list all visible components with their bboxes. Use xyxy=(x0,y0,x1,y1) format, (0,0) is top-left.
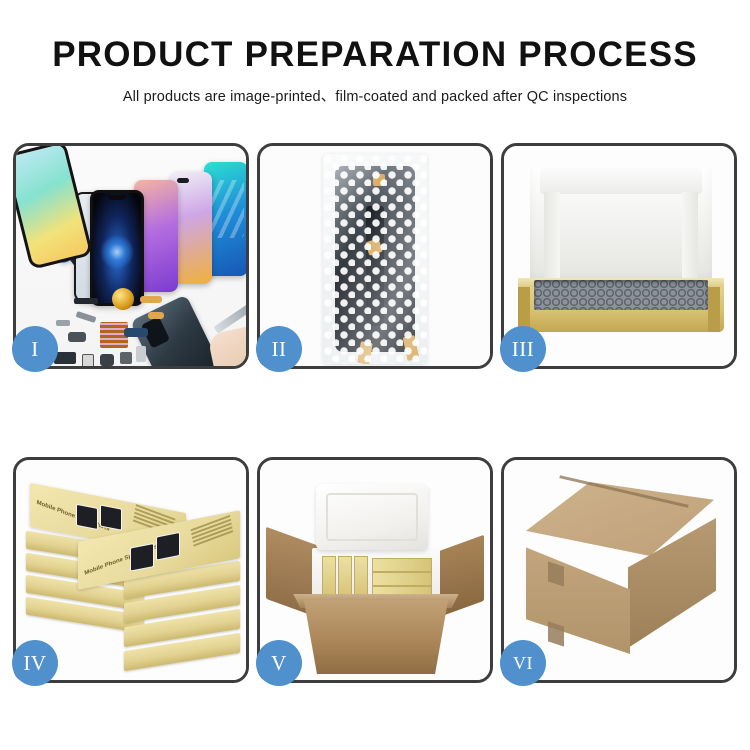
step-badge-6: VI xyxy=(500,640,546,686)
hand-icon xyxy=(207,326,246,366)
part-icon xyxy=(100,354,114,366)
speaker-coil-icon xyxy=(112,288,134,310)
step-badge-3: III xyxy=(500,326,546,372)
box-art-screen xyxy=(156,532,180,561)
bubble-wrap-bag xyxy=(323,154,427,364)
box-spec-lines xyxy=(191,515,234,549)
box-art-screen xyxy=(130,543,154,572)
yellow-box-icon xyxy=(372,558,432,572)
part-icon xyxy=(136,346,146,362)
process-step-panel-3: III xyxy=(501,143,737,369)
page-subtitle: All products are image-printed、film-coat… xyxy=(0,85,750,106)
part-icon xyxy=(56,320,70,326)
step-badge-2: II xyxy=(256,326,302,372)
step-badge-1: I xyxy=(12,326,58,372)
yellow-box-icon xyxy=(338,556,352,598)
process-step-panel-6: VI xyxy=(501,457,737,683)
page-title: PRODUCT PREPARATION PROCESS xyxy=(0,36,750,74)
carton-tape xyxy=(548,621,564,646)
bubble-wrapped-contents xyxy=(534,280,708,310)
process-step-panel-1: I xyxy=(13,143,249,369)
process-step-panel-4: Mobile Phone Spare Parts Mobile Phone Sp… xyxy=(13,457,249,683)
box-label: Mobile Phone Spare Parts xyxy=(36,500,110,533)
tray-corner-right xyxy=(708,287,720,332)
foam-lid-icon xyxy=(316,484,428,550)
process-step-panel-2: II xyxy=(257,143,493,369)
yellow-box-icon xyxy=(372,572,432,586)
lid-flap-right xyxy=(682,192,698,288)
yellow-box-icon xyxy=(322,556,336,598)
flex-cable-icon xyxy=(140,296,162,303)
lid-flap-left xyxy=(544,192,560,288)
box-art-screen xyxy=(76,504,98,530)
header: PRODUCT PREPARATION PROCESS All products… xyxy=(0,36,750,106)
foam-lid-icon xyxy=(530,168,712,284)
product-preparation-infographic: PRODUCT PREPARATION PROCESS All products… xyxy=(0,0,750,750)
part-icon xyxy=(76,311,97,323)
part-icon xyxy=(68,332,86,342)
step-badge-5: V xyxy=(256,640,302,686)
yellow-box-icon xyxy=(354,556,368,598)
box-stack: Mobile Phone Spare Parts Mobile Phone Sp… xyxy=(24,474,244,674)
process-step-grid: I II xyxy=(13,143,737,683)
carton-body xyxy=(294,600,458,674)
part-icon xyxy=(120,352,132,364)
box-art-screen xyxy=(100,504,122,530)
flex-cable-icon xyxy=(124,328,148,337)
part-icon xyxy=(82,354,94,366)
process-step-panel-5: V xyxy=(257,457,493,683)
part-icon xyxy=(74,298,98,304)
flex-cable-icon xyxy=(148,312,164,319)
phone-large-icon xyxy=(16,146,93,270)
plastic-sheen xyxy=(323,154,427,364)
step-badge-4: IV xyxy=(12,640,58,686)
